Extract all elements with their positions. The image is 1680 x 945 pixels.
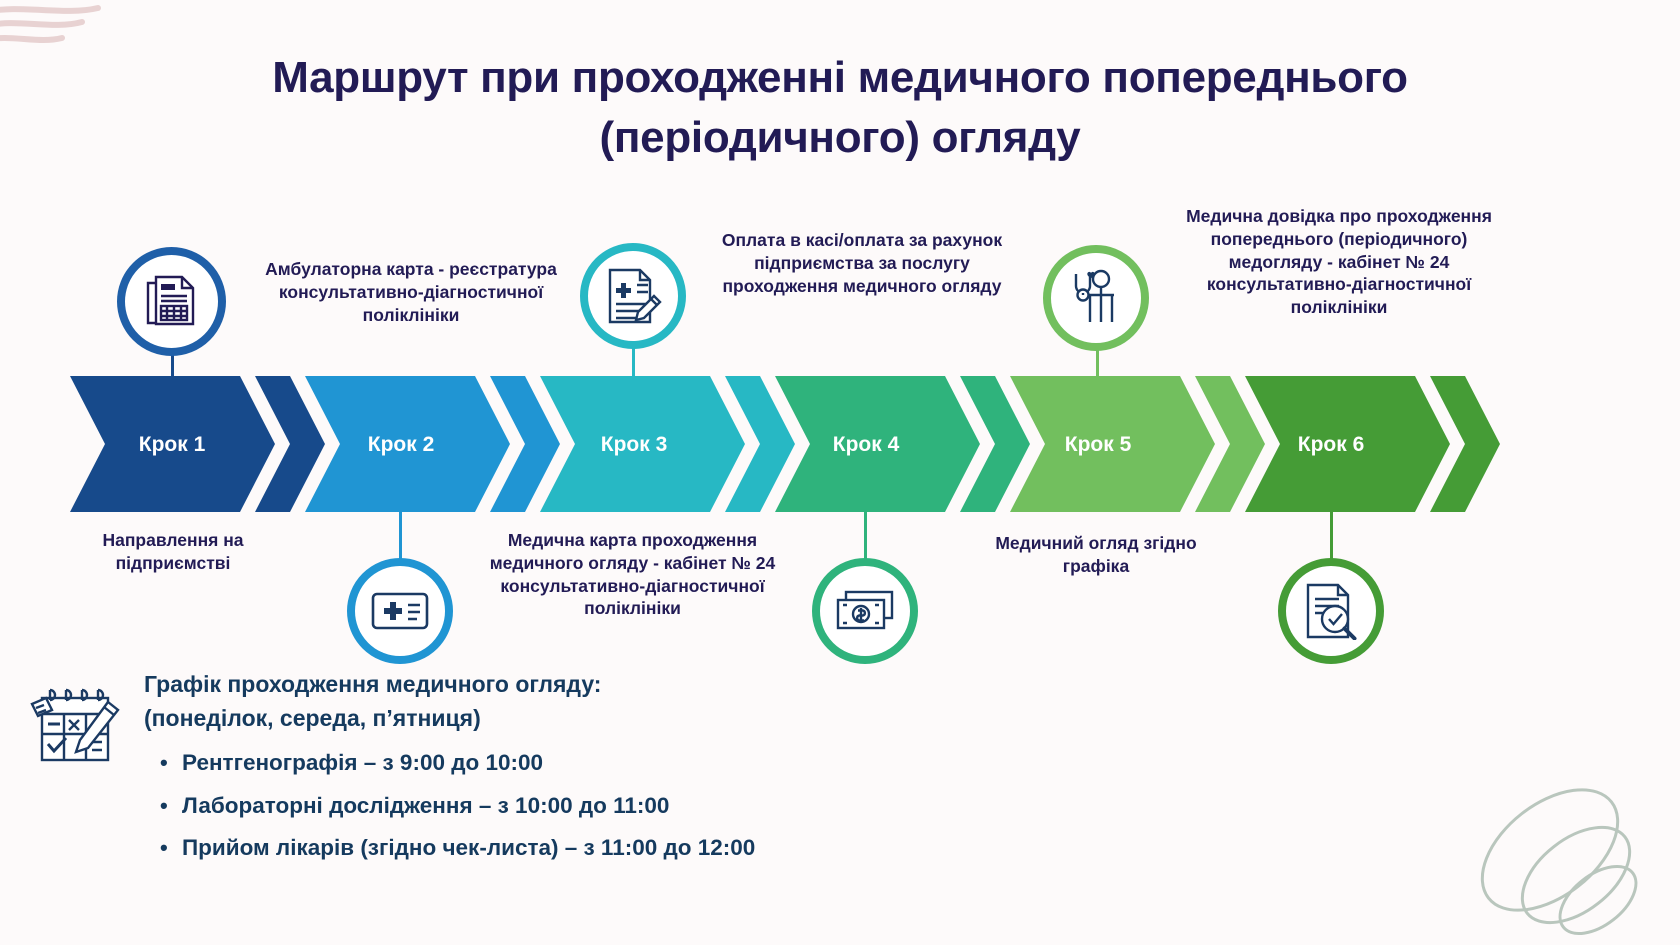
icon-circle-step-4 [812, 558, 918, 664]
decorative-rings-bottom-right [1430, 755, 1660, 945]
schedule-item: Лабораторні дослідження – з 10:00 до 11:… [144, 785, 982, 827]
connector-stem-step-2 [399, 508, 402, 560]
banknotes-money-icon [834, 588, 896, 634]
chevron-step-3 [540, 376, 745, 512]
doctor-stethoscope-icon [1068, 268, 1124, 328]
icon-circle-step-1 [117, 247, 226, 356]
chevron-step-5 [1010, 376, 1215, 512]
icon-circle-step-3 [580, 243, 686, 349]
calendar-checklist-pencil-icon [22, 676, 134, 776]
medical-card-icon [370, 588, 430, 634]
chevron-step-1 [70, 376, 275, 512]
chevron-step-6 [1245, 376, 1450, 512]
connector-stem-step-6 [1330, 508, 1333, 560]
process-chevron-band [70, 376, 1615, 512]
document-magnifier-check-icon [1302, 582, 1360, 640]
callout-step-1: Направлення на підприємстві [62, 529, 284, 575]
schedule-subheading: (понеділок, середа, п’ятниця) [144, 702, 982, 734]
report-document-icon [144, 273, 200, 331]
callout-step-4: Оплата в касі/оплата за рахунок підприєм… [712, 229, 1012, 297]
schedule-heading: Графік проходження медичного огляду: [144, 668, 982, 700]
callout-step-5: Медичний огляд згідно графіка [980, 532, 1212, 578]
page-title: Маршрут при проходженні медичного попере… [0, 48, 1680, 168]
schedule-block: Графік проходження медичного огляду: (по… [22, 668, 982, 869]
schedule-item: Прийом лікарів (згідно чек-листа) – з 11… [144, 827, 982, 869]
medical-form-pencil-icon [604, 266, 662, 326]
chevron-step-2 [305, 376, 510, 512]
callout-step-6: Медична довідка про проходження попередн… [1174, 205, 1504, 319]
callout-step-2: Амбулаторна карта - реєстратура консульт… [246, 258, 576, 326]
schedule-item-list: Рентгенографія – з 9:00 до 10:00 Лаборат… [144, 742, 982, 869]
icon-circle-step-5 [1043, 245, 1149, 351]
connector-stem-step-4 [864, 508, 867, 560]
schedule-item: Рентгенографія – з 9:00 до 10:00 [144, 742, 982, 784]
icon-circle-step-2 [347, 558, 453, 664]
icon-circle-step-6 [1278, 558, 1384, 664]
chevron-step-4 [775, 376, 980, 512]
callout-step-3: Медична карта проходження медичного огля… [460, 529, 805, 620]
